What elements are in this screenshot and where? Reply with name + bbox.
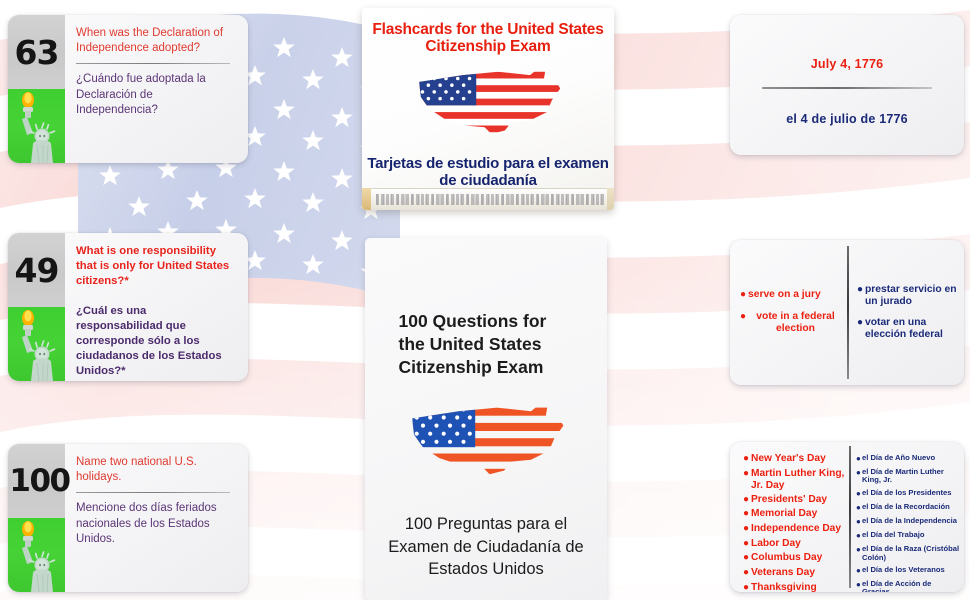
question-text-es: ¿Cuál es una responsabilidad que corresp…	[76, 304, 236, 380]
list-item: ●Presidents' Day	[743, 494, 847, 507]
question-number-panel: 63	[8, 15, 65, 89]
bullet-icon: ●	[743, 582, 751, 592]
list-item: ●el Día del Trabajo	[856, 531, 960, 541]
flashcards-box[interactable]: Flashcards for the United States Citizen…	[362, 8, 614, 210]
box-edge-fine-print	[376, 194, 604, 205]
answer-list-es: ●prestar servicio en un jurado ●votar en…	[857, 284, 958, 351]
bullet-icon: ●	[743, 494, 751, 507]
question-card-100[interactable]: 100 Name two	[8, 444, 248, 592]
bullet-icon: ●	[743, 523, 751, 536]
holiday-list-es: ●el Día de Año Nuevo ●el Día de Martin L…	[856, 454, 960, 592]
title-card[interactable]: 100 Questions for the United States Citi…	[365, 238, 607, 600]
list-item: ●Columbus Day	[743, 552, 847, 565]
usa-map-flag-icon	[396, 394, 576, 491]
box-corner-right	[607, 188, 614, 210]
list-item: ●el Día de los Veteranos	[856, 566, 960, 576]
question-number: 63	[15, 36, 59, 69]
card-divider	[76, 63, 230, 64]
question-text-es: Mencione dos días feriados nacionales de…	[76, 501, 236, 547]
list-item: ●prestar servicio en un jurado	[857, 284, 958, 308]
box-title-es: Tarjetas de estudio para el examen de ci…	[362, 155, 614, 190]
list-item: ●New Year's Day	[743, 453, 847, 466]
question-card-49[interactable]: 49 What is on	[8, 233, 248, 381]
title-card-en: 100 Questions for the United States Citi…	[399, 310, 574, 378]
question-text-en: Name two national U.S. holidays.	[76, 455, 236, 485]
question-card-63[interactable]: 63 When was t	[8, 15, 248, 163]
card-divider-vertical	[847, 246, 849, 379]
list-item: ●Martin Luther King, Jr. Day	[743, 468, 847, 492]
bullet-icon: ●	[743, 468, 751, 492]
list-item: ●votar en una elección federal	[857, 317, 958, 341]
flashcards-product-image: 63 When was t	[0, 0, 970, 600]
card-text-body: Name two national U.S. holidays. Mencion…	[65, 444, 248, 592]
title-card-es: 100 Preguntas para el Examen de Ciudadan…	[384, 513, 589, 580]
list-item: ●el Día de la Independencia	[856, 517, 960, 527]
list-item: ●el Día de los Presidentes	[856, 489, 960, 499]
card-divider	[76, 492, 230, 493]
bullet-icon: ●	[740, 311, 748, 335]
answer-card-national-holidays[interactable]: ●New Year's Day ●Martin Luther King, Jr.…	[730, 442, 964, 592]
list-item: ●vote in a federal election	[740, 311, 843, 335]
bullet-icon: ●	[743, 567, 751, 580]
answer-card-responsibilities[interactable]: ●serve on a jury ●vote in a federal elec…	[730, 240, 964, 385]
box-title-en: Flashcards for the United States Citizen…	[362, 21, 614, 56]
card-side-panel: 49	[8, 233, 65, 381]
bullet-icon: ●	[857, 317, 865, 341]
box-lid-face: Flashcards for the United States Citizen…	[362, 8, 614, 182]
card-divider-vertical	[849, 446, 851, 588]
statue-of-liberty-icon	[8, 518, 65, 592]
box-bottom-edge	[362, 188, 614, 210]
card-side-panel: 100	[8, 444, 65, 592]
question-text-en: When was the Declaration of Independence…	[76, 26, 236, 56]
bullet-icon: ●	[857, 284, 865, 308]
card-side-panel: 63	[8, 15, 65, 163]
statue-of-liberty-icon	[8, 89, 65, 163]
question-number: 100	[9, 466, 69, 497]
list-item: ●Labor Day	[743, 538, 847, 551]
list-item: ●Thanksgiving	[743, 582, 847, 592]
question-text-en: What is one responsibility that is only …	[76, 244, 236, 289]
question-number: 49	[15, 254, 59, 287]
card-text-body: When was the Declaration of Independence…	[65, 15, 248, 163]
answer-text-es: el 4 de julio de 1776	[730, 112, 964, 126]
answer-text-en: July 4, 1776	[730, 57, 964, 71]
list-item: ●el Día de la Raza (Cristóbal Colón)	[856, 545, 960, 562]
list-item: ●el Día de Martin Luther King, Jr.	[856, 468, 960, 485]
question-number-panel: 100	[8, 444, 65, 518]
card-divider	[762, 87, 932, 89]
list-item: ●el Día de la Recordación	[856, 503, 960, 513]
holiday-list-en: ●New Year's Day ●Martin Luther King, Jr.…	[743, 453, 847, 592]
list-item: ●Veterans Day	[743, 567, 847, 580]
box-corner-left	[362, 188, 371, 210]
list-item: ●serve on a jury	[740, 289, 843, 302]
bullet-icon: ●	[743, 552, 751, 565]
question-text-es: ¿Cuándo fue adoptada la Declaración de I…	[76, 72, 236, 118]
bullet-icon: ●	[743, 508, 751, 521]
list-item: ●el Día de Año Nuevo	[856, 454, 960, 464]
answer-card-july-4-1776[interactable]: July 4, 1776 el 4 de julio de 1776	[730, 15, 964, 155]
answer-list-en: ●serve on a jury ●vote in a federal elec…	[740, 289, 843, 344]
list-item: ●Memorial Day	[743, 508, 847, 521]
statue-of-liberty-icon	[8, 307, 65, 381]
card-text-body: What is one responsibility that is only …	[65, 233, 248, 381]
usa-map-flag-icon	[403, 60, 573, 149]
bullet-icon: ●	[743, 538, 751, 551]
list-item: ●Independence Day	[743, 523, 847, 536]
question-number-panel: 49	[8, 233, 65, 307]
bullet-icon: ●	[740, 289, 748, 302]
list-item: ●el Día de Acción de Gracias	[856, 580, 960, 592]
bullet-icon: ●	[743, 453, 751, 466]
